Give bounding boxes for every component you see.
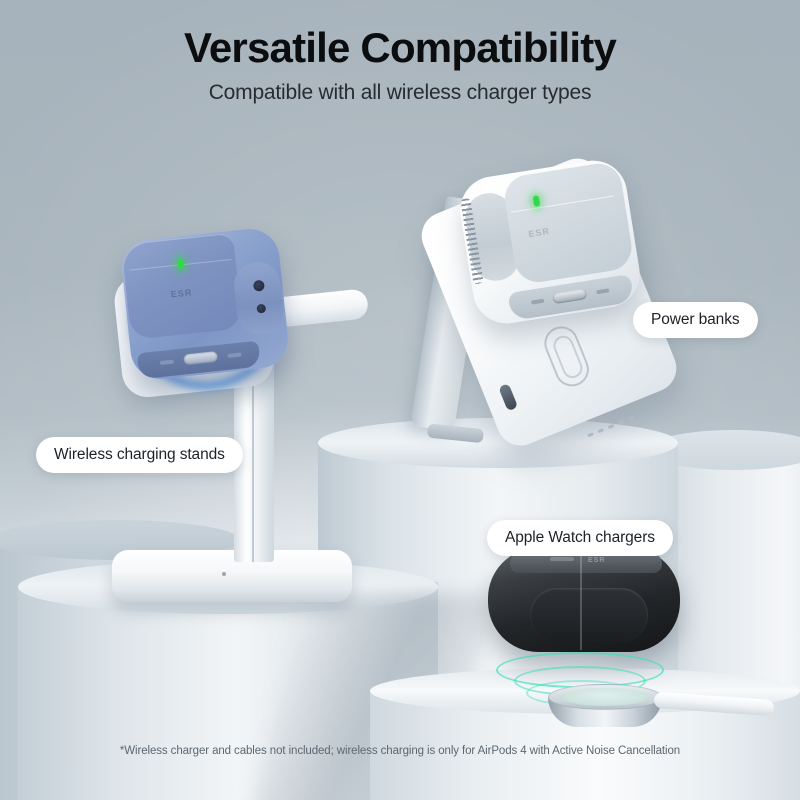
- case-top-notch: [550, 557, 574, 561]
- airpods-case-blue: ESR: [119, 226, 291, 382]
- battery-level-indicator: [587, 416, 634, 438]
- case-front-oval: [530, 588, 648, 642]
- power-bank-emblem: [539, 321, 594, 391]
- airpods-case-black: ESR: [488, 548, 680, 652]
- power-bank-usbc-port: [498, 383, 518, 411]
- wireless-charging-stand: ESR: [96, 230, 366, 610]
- case-contact-pin: [227, 352, 241, 357]
- callout-apple-watch-chargers[interactable]: Apple Watch chargers: [487, 520, 673, 556]
- airpods-case-white: ESR: [455, 156, 644, 328]
- apple-watch-charging-puck: [548, 684, 662, 730]
- battery-dot: [628, 416, 635, 421]
- esr-logo: ESR: [588, 557, 605, 564]
- case-lid: [502, 160, 635, 285]
- usbc-port: [552, 288, 587, 304]
- product-marketing-image: Versatile Compatibility Compatible with …: [0, 0, 800, 800]
- case-speaker-hole: [256, 304, 266, 314]
- page-subtitle: Compatible with all wireless charger typ…: [0, 81, 800, 105]
- battery-dot: [597, 428, 604, 433]
- case-contact-pin: [531, 299, 544, 305]
- page-title: Versatile Compatibility: [0, 26, 800, 71]
- case-lid: [121, 233, 242, 340]
- footnote-disclaimer: *Wireless charger and cables not include…: [0, 745, 800, 757]
- case-seam: [580, 554, 582, 650]
- battery-dot: [587, 432, 594, 437]
- magnetic-power-bank: ESR: [404, 170, 654, 440]
- power-bank-emblem-inner: [550, 333, 585, 381]
- case-lanyard-hole: [253, 280, 265, 292]
- case-contact-pin: [596, 288, 609, 294]
- puck-charging-face: [560, 688, 650, 706]
- callout-wireless-charging-stands[interactable]: Wireless charging stands: [36, 437, 243, 473]
- heading-block: Versatile Compatibility Compatible with …: [0, 26, 800, 105]
- case-lid-seam: [511, 195, 614, 212]
- battery-dot: [618, 420, 625, 425]
- callout-power-banks[interactable]: Power banks: [633, 302, 758, 338]
- stand-base: [112, 550, 352, 602]
- battery-dot: [608, 424, 615, 429]
- status-led: [177, 258, 184, 270]
- stand-indicator-dot: [222, 572, 226, 576]
- apple-watch-charger-group: ESR: [470, 548, 710, 723]
- usbc-port: [183, 351, 218, 365]
- case-contact-pin: [160, 360, 174, 365]
